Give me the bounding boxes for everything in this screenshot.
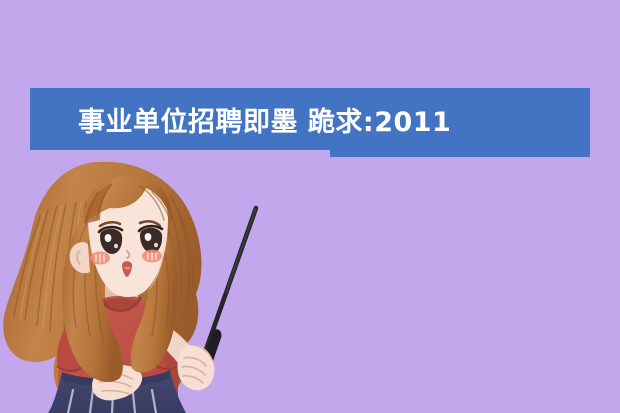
title-banner: 事业单位招聘即墨 跪求:2011 [30, 88, 590, 157]
poster-canvas: 事业单位招聘即墨 跪求:2011 [0, 0, 620, 413]
page-title: 事业单位招聘即墨 跪求:2011 [78, 109, 451, 136]
cartoon-girl-with-pointer-illustration [0, 150, 330, 413]
